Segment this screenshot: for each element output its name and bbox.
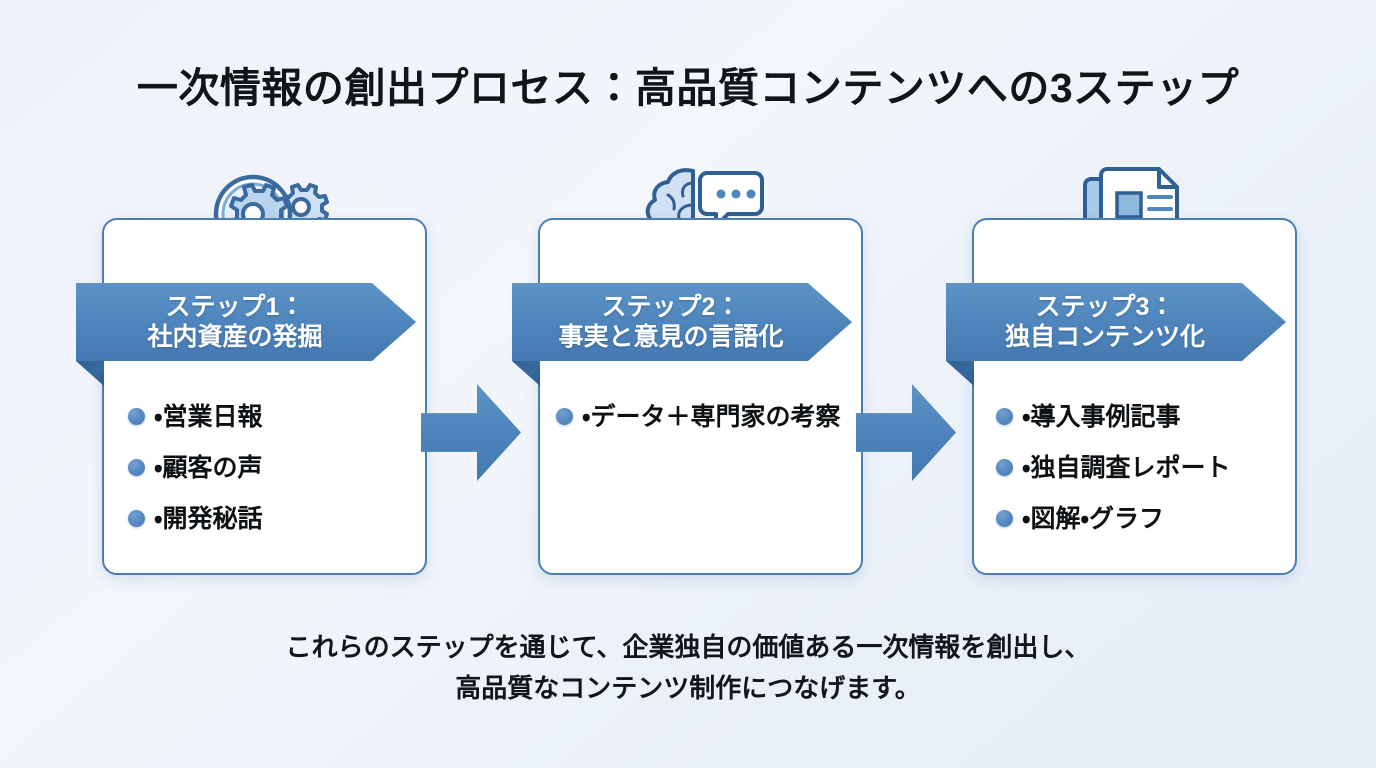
step-ribbon-1-line1: ステップ1： bbox=[166, 292, 305, 323]
step-ribbon-2: ステップ2： 事実と意見の言語化 bbox=[512, 283, 852, 361]
bullet-label: ・顧客の声 bbox=[154, 451, 263, 485]
step-ribbon-2-line2: 事実と意見の言語化 bbox=[558, 322, 783, 353]
arrow-right-icon bbox=[856, 384, 956, 481]
summary-text: これらのステップを通じて、企業独自の価値ある一次情報を創出し、 高品質なコンテン… bbox=[0, 627, 1376, 708]
ribbon-fold-3 bbox=[946, 361, 974, 386]
bullet-dot-icon bbox=[556, 408, 573, 425]
bullet-label: ・データ＋専門家の考察 bbox=[582, 400, 841, 434]
step-ribbon-1-line2: 社内資産の発掘 bbox=[147, 322, 322, 353]
list-item: ・顧客の声 bbox=[128, 451, 398, 485]
ribbon-fold-2 bbox=[512, 361, 540, 386]
list-item: ・独自調査レポート bbox=[996, 451, 1286, 485]
bullet-dot-icon bbox=[996, 408, 1013, 425]
list-item: ・営業日報 bbox=[128, 400, 398, 434]
infographic-canvas: 一次情報の創出プロセス：高品質コンテンツへの3ステップ bbox=[0, 0, 1376, 768]
ribbon-fold-1 bbox=[76, 361, 104, 386]
step-ribbon-3-line2: 独自コンテンツ化 bbox=[1005, 322, 1205, 353]
bullet-label: ・導入事例記事 bbox=[1022, 400, 1181, 434]
step-ribbon-3-line1: ステップ3： bbox=[1036, 292, 1175, 323]
bullet-dot-icon bbox=[128, 510, 145, 527]
bullet-dot-icon bbox=[128, 459, 145, 476]
step-card-2[interactable] bbox=[538, 218, 863, 575]
list-item: ・図解・グラフ bbox=[996, 502, 1286, 536]
bullet-label: ・独自調査レポート bbox=[1022, 451, 1231, 485]
step-ribbon-1: ステップ1： 社内資産の発掘 bbox=[76, 283, 416, 361]
page-title: 一次情報の創出プロセス：高品質コンテンツへの3ステップ bbox=[0, 54, 1376, 114]
summary-line-1: これらのステップを通じて、企業独自の価値ある一次情報を創出し、 bbox=[0, 627, 1376, 668]
list-item: ・導入事例記事 bbox=[996, 400, 1286, 434]
step-ribbon-2-line1: ステップ2： bbox=[602, 292, 741, 323]
step-bullet-list-3: ・導入事例記事 ・独自調査レポート ・図解・グラフ bbox=[996, 400, 1286, 553]
bullet-label: ・営業日報 bbox=[154, 400, 263, 434]
summary-line-2: 高品質なコンテンツ制作につなげます。 bbox=[0, 668, 1376, 709]
step-bullet-list-1: ・営業日報 ・顧客の声 ・開発秘話 bbox=[128, 400, 398, 553]
list-item: ・データ＋専門家の考察 bbox=[556, 400, 846, 434]
step-ribbon-3: ステップ3： 独自コンテンツ化 bbox=[946, 283, 1286, 361]
bullet-label: ・図解・グラフ bbox=[1022, 502, 1164, 536]
step-bullet-list-2: ・データ＋専門家の考察 bbox=[556, 400, 846, 451]
bullet-label: ・開発秘話 bbox=[154, 502, 263, 536]
bullet-dot-icon bbox=[996, 459, 1013, 476]
arrow-right-icon bbox=[421, 384, 521, 481]
bullet-dot-icon bbox=[996, 510, 1013, 527]
list-item: ・開発秘話 bbox=[128, 502, 398, 536]
bullet-dot-icon bbox=[128, 408, 145, 425]
